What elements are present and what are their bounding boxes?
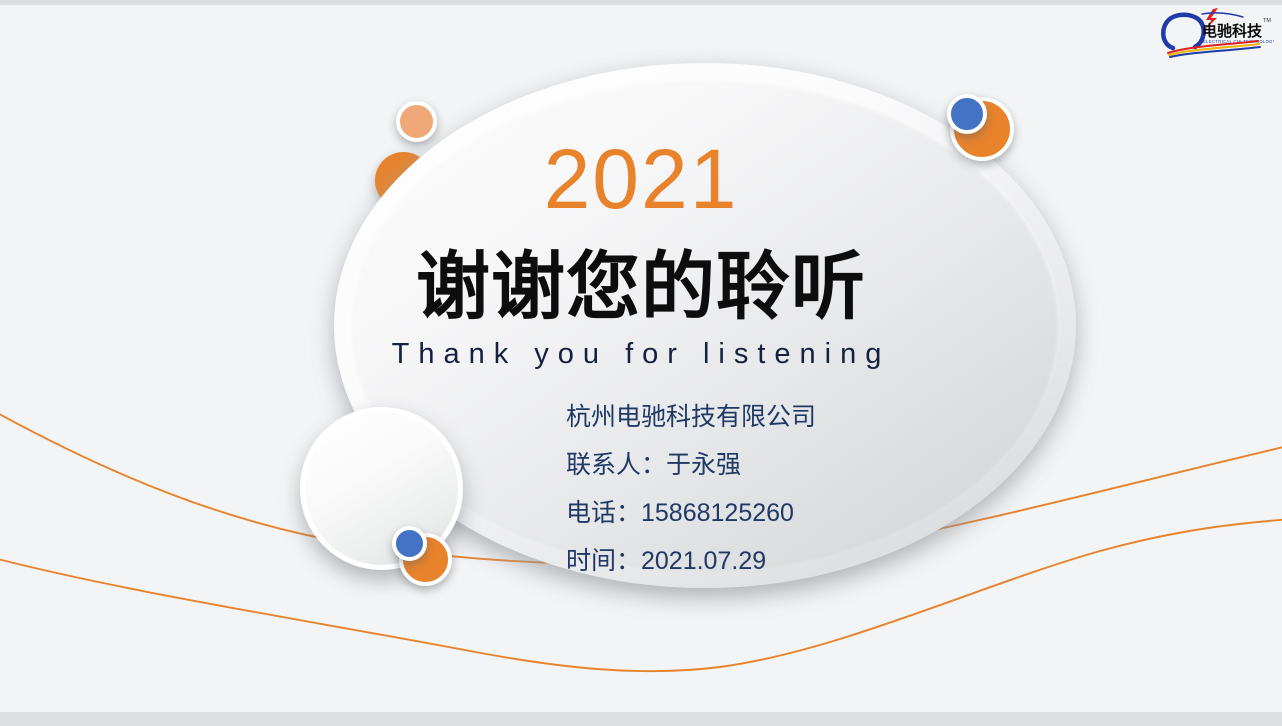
blue-circle-top-right-icon bbox=[947, 94, 987, 134]
contact-block: 杭州电驰科技有限公司 联系人：于永强 电话：15868125260 时间：202… bbox=[566, 393, 1026, 585]
contact-phone: 电话：15868125260 bbox=[566, 489, 1026, 537]
slide-stage: 2021 谢谢您的聆听 Thank you for listening 杭州电驰… bbox=[0, 5, 1282, 712]
slide-top-chrome-strip bbox=[0, 0, 1282, 5]
logo-chinese-text: 电驰科技 bbox=[1202, 22, 1263, 40]
year-text: 2021 bbox=[0, 137, 1282, 221]
contact-person: 联系人：于永强 bbox=[566, 441, 1026, 489]
headline-thank-you: 谢谢您的聆听 bbox=[0, 250, 1282, 324]
slide-bottom-chrome-strip bbox=[0, 712, 1282, 726]
peach-circle-top-left-icon bbox=[396, 101, 437, 142]
contact-date: 时间：2021.07.29 bbox=[566, 537, 1026, 585]
blue-circle-bottom-left-icon bbox=[392, 526, 427, 561]
presentation-slide: 2021 谢谢您的聆听 Thank you for listening 杭州电驰… bbox=[0, 0, 1282, 726]
contact-company: 杭州电驰科技有限公司 bbox=[566, 393, 1026, 441]
subheadline-english: Thank you for listening bbox=[0, 340, 1282, 369]
logo-trademark: TM bbox=[1263, 18, 1271, 24]
company-logo: 电驰科技 TM ELECTRICAL CHI TECHNOLOGY bbox=[1154, 5, 1274, 59]
